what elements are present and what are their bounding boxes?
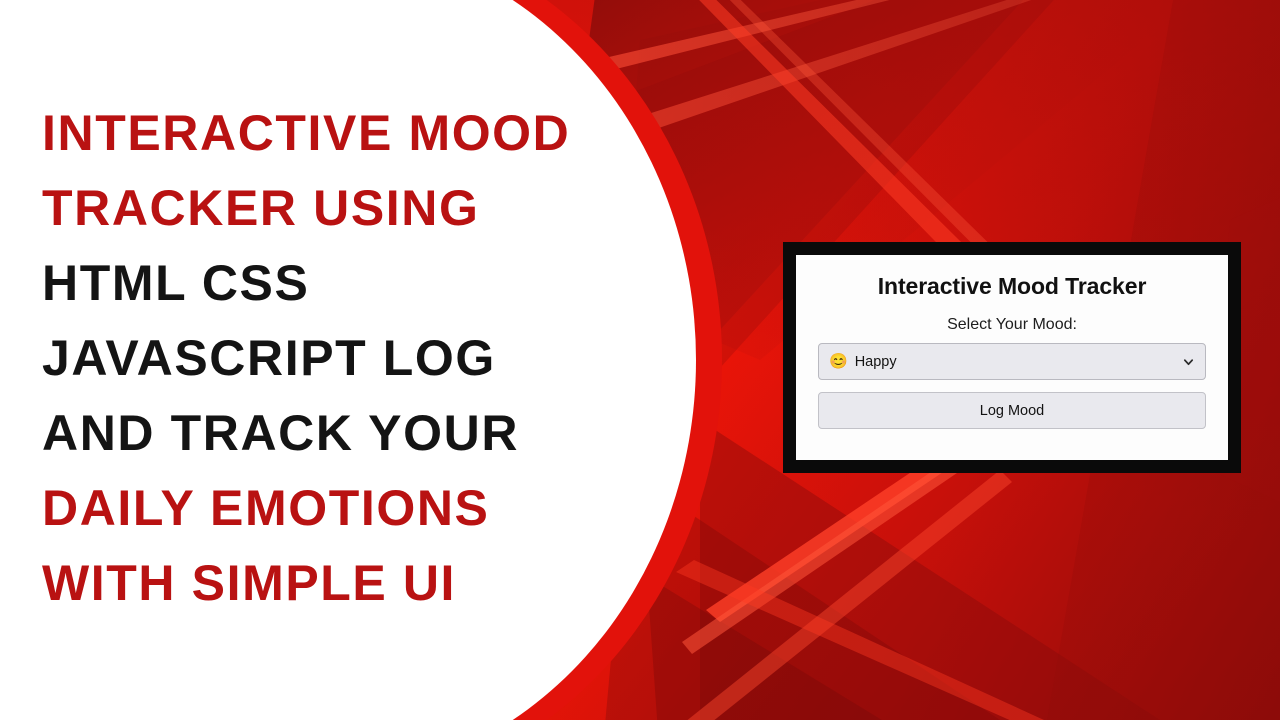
mood-select-label: Select Your Mood:: [818, 316, 1206, 334]
headline-line-4: JAVASCRIPT LOG: [42, 321, 642, 396]
mood-select-value: Happy: [855, 354, 897, 370]
headline-line-3: HTML CSS: [42, 246, 642, 321]
log-mood-button[interactable]: Log Mood: [818, 392, 1206, 429]
headline-line-5: AND TRACK YOUR: [42, 396, 642, 471]
headline-line-7: WITH SIMPLE UI: [42, 546, 642, 621]
headline-line-2: TRACKER USING: [42, 171, 642, 246]
card-title: Interactive Mood Tracker: [818, 273, 1206, 300]
headline: INTERACTIVE MOOD TRACKER USING HTML CSS …: [42, 96, 642, 621]
thumbnail-stage: INTERACTIVE MOOD TRACKER USING HTML CSS …: [0, 0, 1280, 720]
headline-line-6: DAILY EMOTIONS: [42, 471, 642, 546]
chevron-down-icon[interactable]: [1183, 356, 1194, 367]
headline-line-1: INTERACTIVE MOOD: [42, 96, 642, 171]
mood-tracker-card: Interactive Mood Tracker Select Your Moo…: [783, 242, 1241, 473]
mood-tracker-panel: Interactive Mood Tracker Select Your Moo…: [796, 255, 1228, 460]
mood-select[interactable]: 😊 Happy: [818, 343, 1206, 380]
smiling-face-icon: 😊: [829, 354, 848, 369]
